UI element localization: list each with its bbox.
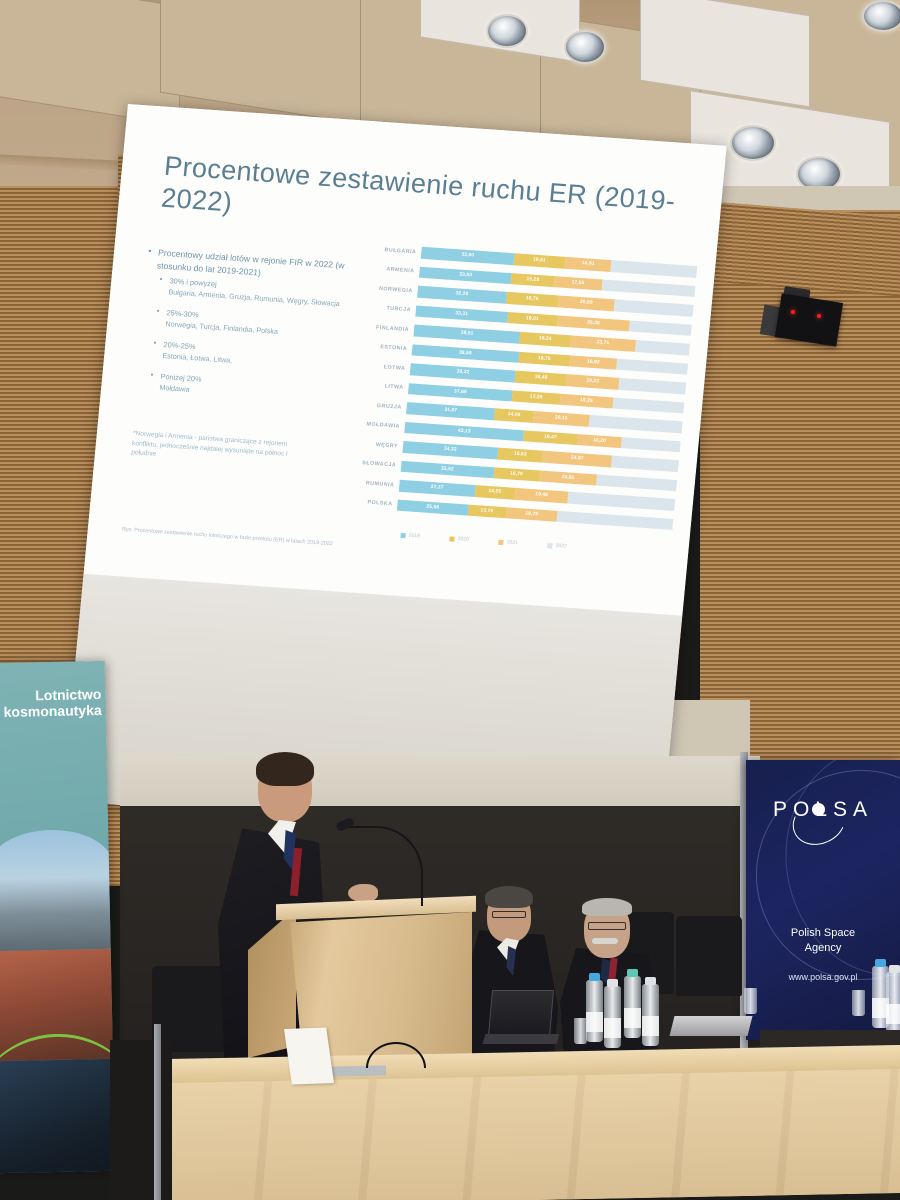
- drinking-glass: [574, 1018, 587, 1044]
- chart-segment: 16,92: [570, 355, 618, 370]
- laptop-keyboard[interactable]: [483, 1034, 560, 1044]
- chart-segment: 16,91: [564, 257, 612, 272]
- legend-label: 2019: [408, 533, 420, 540]
- chart-segment: 15,28: [511, 273, 554, 287]
- chart-row-label: FINLANDIA: [360, 323, 414, 333]
- chart-segment: 16,20: [577, 434, 623, 449]
- chart-segment: [588, 415, 682, 433]
- chart-segment: 33,31: [415, 305, 508, 323]
- banner-green-arc: [0, 1032, 115, 1173]
- side-shadow: [110, 1040, 172, 1200]
- chart-segment: [635, 340, 690, 355]
- legend-label: 2022: [555, 543, 567, 550]
- slide-title: Procentowe zestawienie ruchu ER (2019-20…: [160, 151, 695, 251]
- banner-left-line2: kosmonautyka: [0, 703, 102, 721]
- chart-segment: 33,52: [401, 460, 494, 478]
- chart-segment: 19,47: [523, 430, 578, 445]
- chart-segment: 18,76: [506, 292, 559, 307]
- banner-left-pole: [154, 1024, 161, 1200]
- legend-item: 2019: [400, 532, 420, 539]
- stacked-bar-chart: BUŁGARIA33,6018,5116,91ARMENIA33,5015,28…: [337, 239, 697, 591]
- bottle-label: [586, 1012, 603, 1032]
- chart-segment: 19,03: [566, 374, 619, 389]
- legend-item: 2020: [449, 535, 469, 542]
- chair: [676, 916, 742, 996]
- chart-segment: 23,71: [570, 335, 636, 351]
- legend-item: 2021: [498, 539, 518, 546]
- chart-segment: 18,48: [515, 371, 567, 386]
- water-bottle: [586, 980, 603, 1042]
- chart-segment: 27,37: [399, 480, 475, 497]
- glasses-icon: [492, 911, 526, 918]
- bottle-cap: [875, 959, 886, 967]
- speaker-hair: [256, 752, 314, 786]
- slide-bullets: Procentowy udział lotów w rejonie FIR w …: [132, 246, 361, 416]
- chart-segment: 32,20: [417, 286, 507, 304]
- bottle-cap: [627, 969, 638, 977]
- conference-table-front: [168, 1069, 900, 1200]
- glasses-icon: [588, 922, 626, 930]
- polsa-subtitle: Polish Space Agency: [746, 926, 900, 956]
- chart-row-label: RUMUNIA: [345, 479, 399, 489]
- chart-segment: [596, 474, 677, 491]
- chart-segment: 13,76: [467, 504, 506, 518]
- chart-segment: 31,97: [406, 402, 495, 420]
- chart-segment: 16,53: [497, 448, 544, 463]
- chart-segment: [602, 279, 696, 297]
- chart-row-label: ARMENIA: [365, 265, 419, 275]
- chart-segment: 18,75: [518, 351, 571, 366]
- chart-segment: 18,51: [513, 253, 565, 268]
- chart-segment: 20,81: [539, 470, 597, 485]
- water-bottle: [604, 986, 621, 1048]
- chart-segment: 34,32: [402, 441, 498, 459]
- panelist-2-hair: [582, 898, 632, 916]
- legend-swatch-icon: [449, 536, 454, 541]
- bottle-cap: [589, 973, 600, 981]
- legend-swatch-icon: [547, 543, 552, 548]
- presentation-slide: Procentowe zestawienie ruchu ER (2019-20…: [84, 104, 727, 616]
- ceiling-downlight: [862, 0, 900, 32]
- chart-segment: 16,70: [493, 467, 540, 482]
- panelist-2-mustache: [592, 938, 618, 944]
- chart-row-label: TURCJA: [362, 304, 416, 314]
- chart-segment: 14,06: [494, 408, 534, 422]
- chart-segment: 14,55: [474, 485, 515, 499]
- chart-segment: 33,50: [419, 266, 512, 284]
- slide-footnote: *Norwegia i Armenia - państwa graniczące…: [131, 429, 313, 470]
- ceiling-downlight: [730, 125, 776, 161]
- drinking-glass: [744, 988, 757, 1014]
- chart-row-label: ESTONIA: [358, 343, 412, 353]
- banner-photo-airport: [0, 829, 115, 952]
- chart-segment: [614, 299, 694, 316]
- ceiling-downlight: [564, 30, 606, 64]
- bottle-label: [604, 1018, 621, 1038]
- camera-led-icon: [791, 310, 795, 314]
- bottle-cap: [607, 979, 618, 987]
- chart-segment: 19,26: [559, 393, 613, 408]
- bottle-label: [624, 1008, 641, 1028]
- chart-rows: BUŁGARIA33,6018,5116,91ARMENIA33,5015,28…: [343, 239, 698, 534]
- chart-segment: 17,29: [512, 390, 561, 405]
- water-bottle: [624, 976, 641, 1038]
- chart-segment: 18,24: [519, 332, 570, 347]
- chart-segment: 20,50: [557, 295, 615, 310]
- chart-row-label: LITWA: [354, 382, 408, 392]
- chart-row-label: GRUZJA: [352, 401, 406, 411]
- drinking-glass: [852, 990, 865, 1016]
- water-bottle: [886, 972, 900, 1034]
- projection-screen: Procentowe zestawienie ruchu ER (2019-20…: [62, 104, 727, 843]
- chart-row-label: SŁOWACJA: [347, 459, 401, 469]
- camera-led-icon: [817, 314, 821, 318]
- chart-segment: 19,46: [514, 488, 569, 503]
- chart-segment: [611, 260, 697, 277]
- chart-segment: 24,87: [542, 451, 612, 467]
- wall-camera-icon: [775, 293, 843, 346]
- banner-lotnictwo: Lotnictwo kosmonautyka: [0, 661, 115, 1173]
- bottle-cap: [889, 965, 900, 973]
- chart-segment: 26,38: [557, 315, 631, 332]
- chart-segment: [616, 358, 688, 374]
- chart-row-label: NORWEGIA: [363, 285, 417, 295]
- legend-label: 2021: [506, 539, 518, 546]
- conference-scene: Procentowe zestawienie ruchu ER (2019-20…: [0, 0, 900, 1200]
- chart-segment: [618, 378, 686, 394]
- laptop-second[interactable]: [670, 1016, 753, 1036]
- chart-segment: 33,60: [421, 247, 515, 265]
- chart-segment: [612, 397, 684, 413]
- chart-caption: Rys. Procentowe zestawienie ruchu lotnic…: [122, 526, 552, 562]
- chart-segment: 20,11: [533, 411, 589, 426]
- panelist-1-hair: [485, 886, 533, 908]
- legend-swatch-icon: [498, 539, 503, 544]
- water-bottle: [642, 984, 659, 1046]
- chart-segment: [621, 437, 680, 453]
- chart-segment: [611, 456, 679, 472]
- chart-segment: 17,55: [553, 276, 602, 291]
- chart-row-label: ŁOTWA: [356, 362, 410, 372]
- chart-row-label: WĘGRY: [349, 440, 403, 450]
- bottle-label: [886, 1004, 900, 1024]
- bottle-cap: [645, 977, 656, 985]
- legend-item: 2022: [547, 542, 567, 549]
- banner-left-title: Lotnictwo kosmonautyka: [0, 687, 102, 721]
- polsa-planet-icon: [812, 803, 825, 816]
- chart-row-label: MOŁDAWIA: [351, 421, 405, 431]
- chart-segment: 18,79: [505, 507, 558, 522]
- ceiling-downlight: [486, 14, 528, 48]
- polsa-subtitle-line2: Agency: [746, 941, 900, 956]
- legend-label: 2020: [457, 536, 469, 543]
- laptop-screen[interactable]: [488, 990, 554, 1036]
- chart-row-label: POLSKA: [343, 498, 397, 508]
- polsa-subtitle-line1: Polish Space: [746, 926, 900, 941]
- chart-segment: 18,01: [507, 311, 558, 326]
- chart-row-label: BUŁGARIA: [367, 246, 421, 256]
- chart-segment: [629, 320, 691, 336]
- paper-sheet: [284, 1028, 334, 1085]
- chart-segment: 25,58: [397, 499, 469, 515]
- legend-swatch-icon: [400, 532, 405, 537]
- bottle-label: [642, 1016, 659, 1036]
- chart-segment: [557, 510, 673, 529]
